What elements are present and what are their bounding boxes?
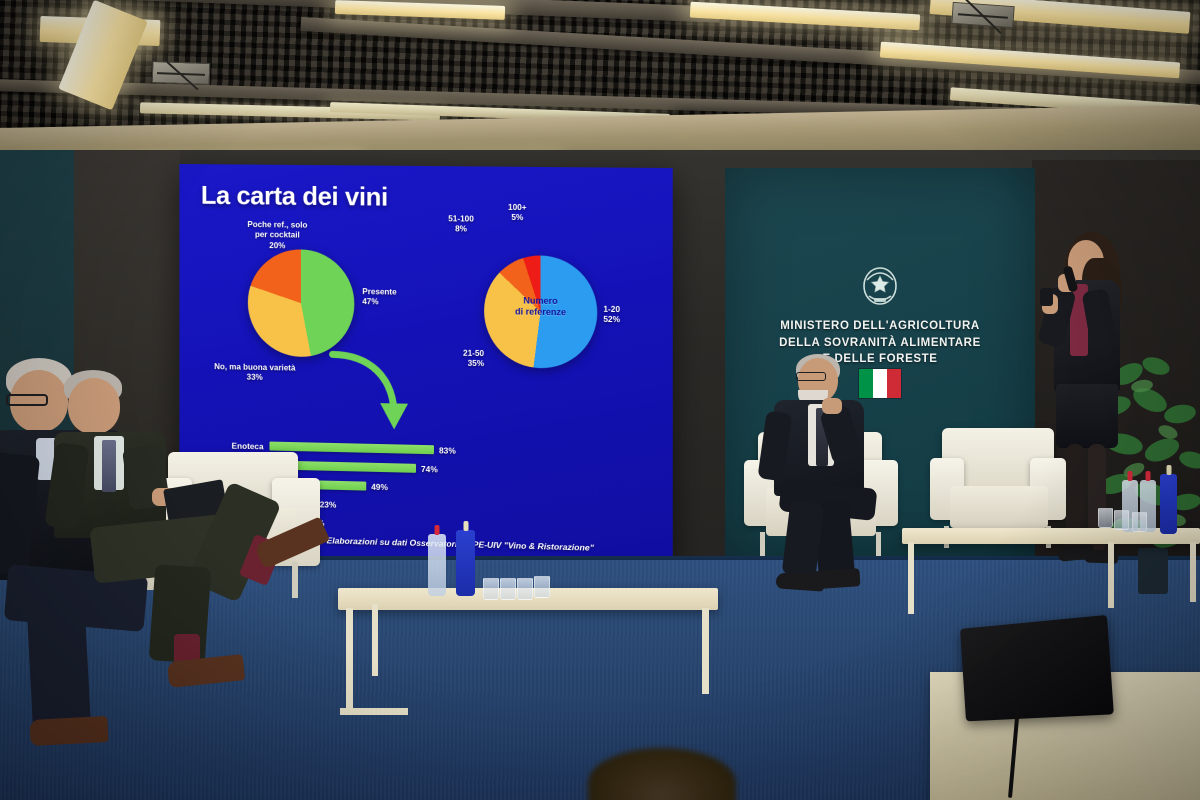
- drinking-glass: [517, 578, 533, 600]
- drinking-glass: [1098, 508, 1113, 528]
- water-bottle-plastic: [428, 534, 446, 596]
- pie-label-21-50: 21-50 35%: [422, 348, 484, 370]
- pie-label-1-20: 1-20 52%: [603, 305, 664, 327]
- ministry-line-1: MINISTERO DELL'AGRICOLTURA: [725, 318, 1035, 335]
- pie-label-presente: Presente 47%: [362, 287, 448, 309]
- pie-chart-carta-dei-vini: [248, 249, 354, 358]
- drinking-glass: [1132, 512, 1147, 532]
- eyeglasses-icon: [6, 394, 48, 406]
- water-bottle-blue-glass: [1160, 474, 1177, 534]
- shoe: [776, 572, 825, 591]
- slide-title: La carta dei vini: [201, 180, 388, 213]
- ceiling-light-panel: [690, 2, 921, 31]
- ceiling-beam: [300, 17, 1200, 89]
- pie-center-label-numero-referenze: Numero di referenze: [484, 295, 597, 319]
- remote-clicker-icon: [1040, 288, 1053, 306]
- laptop[interactable]: [960, 615, 1114, 722]
- seated-panelist-left: [56, 370, 336, 700]
- water-bottle-blue-glass: [456, 530, 475, 596]
- pie-label-poche-ref: Poche ref., solo per cocktail 20%: [218, 220, 336, 252]
- bar-value: 49%: [371, 481, 388, 491]
- italian-republic-emblem-icon: [859, 260, 901, 310]
- ceiling-vent-icon: [152, 61, 211, 85]
- drinking-glass: [500, 578, 516, 600]
- necktie: [102, 440, 116, 492]
- seated-panelist-center: [760, 352, 910, 592]
- eyeglasses-icon: [796, 372, 826, 381]
- bar-value: 83%: [439, 445, 456, 455]
- conference-photo-scene: MINISTERO DELL'AGRICOLTURA DELLA SOVRANI…: [0, 0, 1200, 800]
- skirt: [1056, 384, 1118, 448]
- pie-label-51-100: 51-100 8%: [429, 214, 493, 235]
- hand: [822, 398, 842, 414]
- pie-label-100plus: 100+ 5%: [490, 203, 544, 224]
- ceiling-vent-icon: [951, 2, 1014, 28]
- drinking-glass: [1114, 510, 1129, 530]
- drinking-glass: [534, 576, 550, 598]
- drinking-glass: [483, 578, 499, 600]
- bar-value: 74%: [421, 463, 438, 473]
- ministry-line-2: DELLA SOVRANITÀ ALIMENTARE: [725, 335, 1035, 352]
- green-down-arrow-icon: [327, 350, 416, 442]
- shoe: [29, 716, 108, 746]
